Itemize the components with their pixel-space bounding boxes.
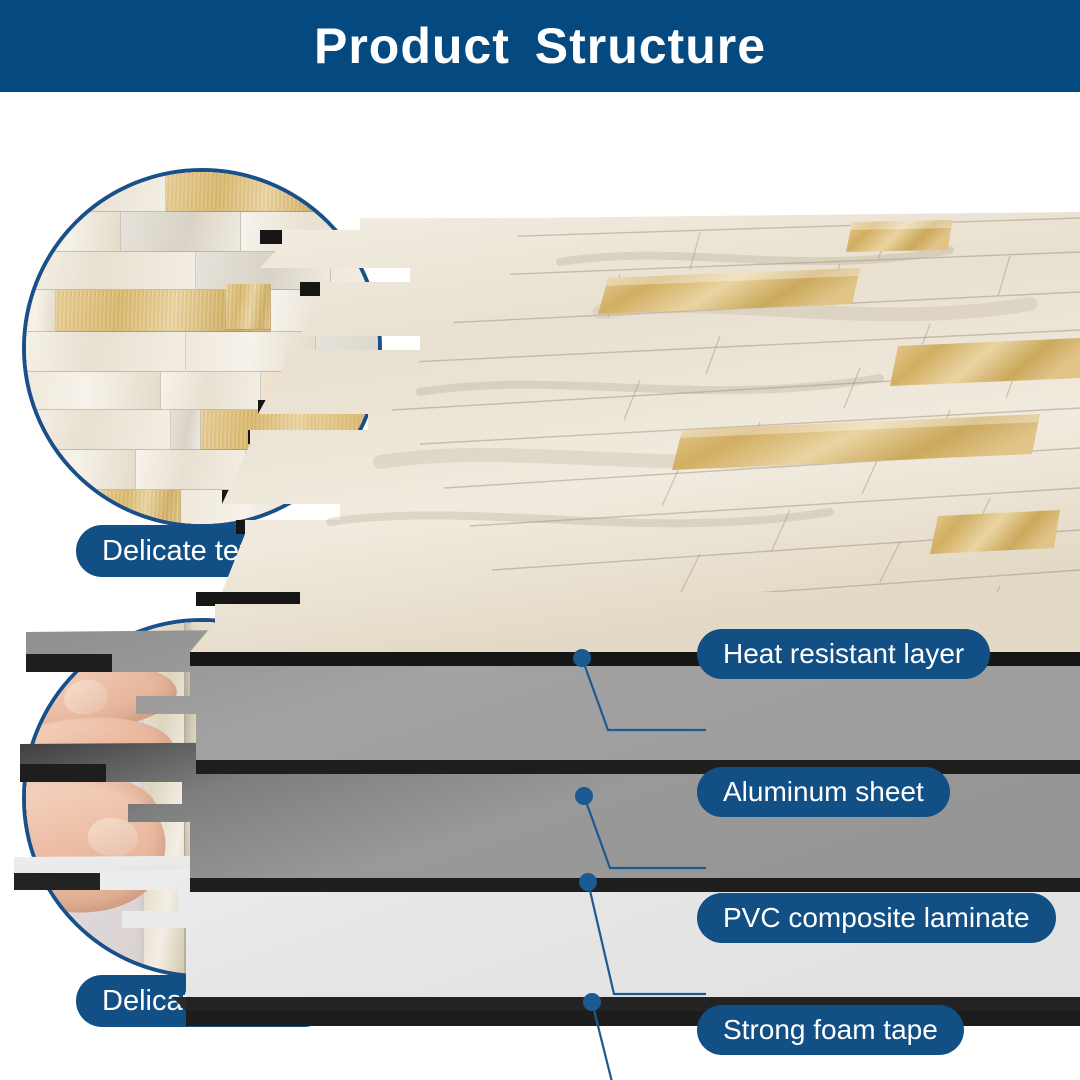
callout-aluminum-sheet: Aluminum sheet bbox=[697, 767, 950, 817]
anchor-dot-heat-resistant-layer bbox=[573, 649, 591, 667]
anchor-dot-pvc-composite-laminate bbox=[579, 873, 597, 891]
callout-heat-resistant-layer: Heat resistant layer bbox=[697, 629, 990, 679]
header-bar: Product Structure bbox=[0, 0, 1080, 92]
decorative-surface-layer bbox=[190, 212, 1080, 666]
callout-strong-foam-tape: Strong foam tape bbox=[697, 1005, 964, 1055]
anchor-dot-strong-foam-tape bbox=[583, 993, 601, 1011]
page-title: Product Structure bbox=[314, 21, 766, 71]
anchor-dot-aluminum-sheet bbox=[575, 787, 593, 805]
callout-pvc-composite-laminate: PVC composite laminate bbox=[697, 893, 1056, 943]
